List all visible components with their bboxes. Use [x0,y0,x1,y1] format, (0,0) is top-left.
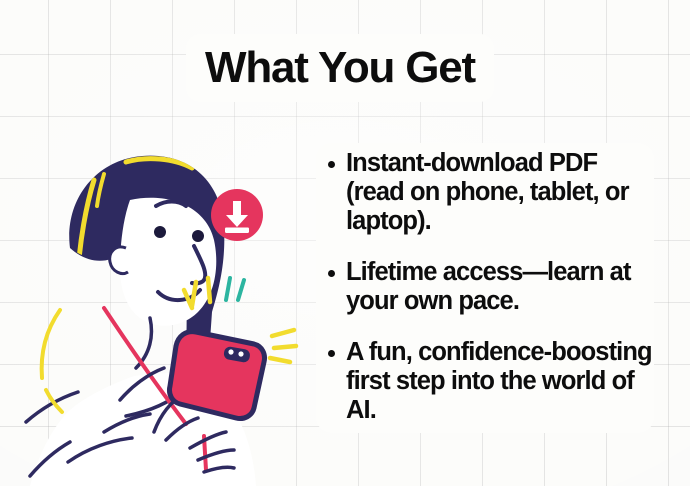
woman-with-phone-illustration [8,140,308,486]
list-item: A fun, confidence-boosting first step in… [316,338,658,425]
bullet-dot-icon [328,161,335,168]
list-item-text: Instant-download PDF (read on phone, tab… [346,149,629,235]
illustration-svg [8,140,308,486]
download-icon-svg [211,189,263,241]
list-item: Lifetime access—learn at your own pace. [316,258,658,316]
list-item: Instant-download PDF (read on phone, tab… [316,149,658,236]
slide-canvas: What You Get Instant-download PDF (read … [0,0,690,486]
smartphone [169,332,264,419]
list-item-text: A fun, confidence-boosting first step in… [346,338,652,424]
download-icon [211,189,263,241]
page-title: What You Get [186,34,494,102]
shoulder-accent-yellow [42,310,62,412]
bullet-dot-icon [328,350,335,357]
list-item-text: Lifetime access—learn at your own pace. [346,258,631,315]
bullet-dot-icon [328,270,335,277]
bullet-list: Instant-download PDF (read on phone, tab… [316,143,658,425]
